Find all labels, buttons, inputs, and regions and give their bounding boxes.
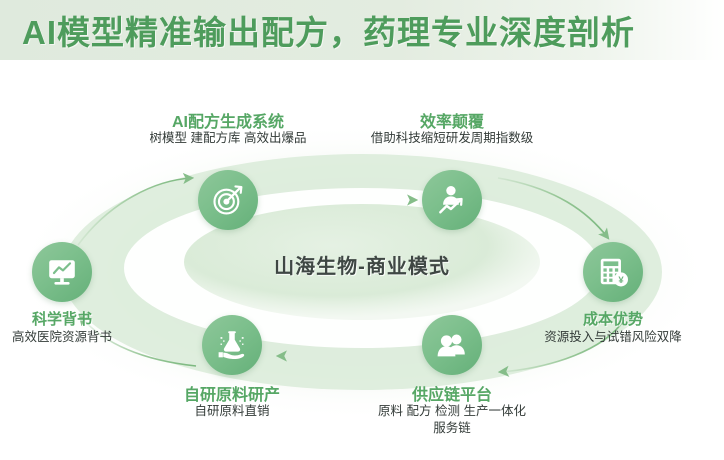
center-label: 山海生物-商业模式 [232, 250, 492, 279]
node-title: 自研原料研产 [162, 381, 302, 405]
node-title: 供应链平台 [387, 381, 517, 405]
target-icon [198, 170, 258, 230]
monitor-chart-icon [32, 242, 92, 302]
node-subtitle: 自研原料直销 [162, 403, 302, 420]
svg-text:¥: ¥ [618, 275, 624, 286]
node-subtitle: 借助科技缩短研发周期指数级 [337, 130, 567, 147]
calculator-yen-icon: ¥ [583, 242, 643, 302]
node-subtitle: 原料 配方 检测 生产一体化服务链 [372, 403, 532, 437]
node-subtitle: 资源投入与试错风险双降 [533, 329, 693, 346]
node-title: AI配方生成系统 [145, 108, 311, 132]
node-title: 效率颠覆 [369, 108, 535, 132]
node-title: 科学背书 [2, 308, 122, 329]
node-title: 成本优势 [553, 308, 673, 329]
node-subtitle: 高效医院资源背书 [0, 329, 130, 346]
page-title: AI模型精准输出配方，药理专业深度剖析 [22, 6, 635, 54]
node-subtitle: 树模型 建配方库 高效出爆品 [118, 130, 338, 147]
person-growth-chart-icon [422, 170, 482, 230]
business-model-diagram: 山海生物-商业模式 AI配方生成系统 树模型 建配方库 高效出爆品 效率颠覆 借… [0, 60, 724, 460]
hand-flask-icon [202, 315, 262, 375]
two-people-icon [422, 315, 482, 375]
title-banner: AI模型精准输出配方，药理专业深度剖析 [0, 0, 724, 60]
